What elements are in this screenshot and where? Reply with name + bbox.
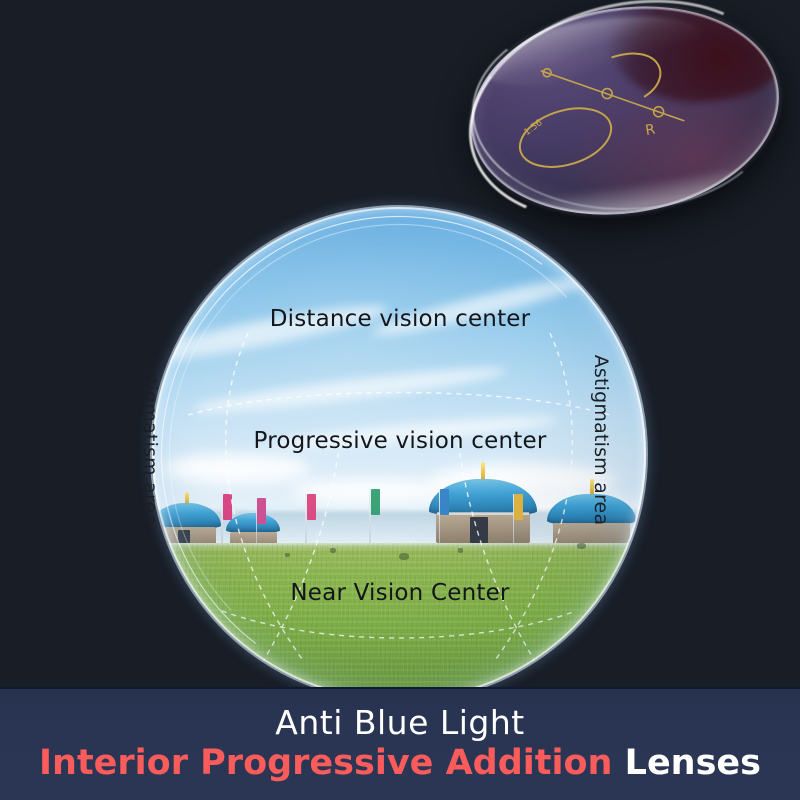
field-object — [285, 553, 290, 557]
banner-tail-text: Lenses — [612, 743, 761, 783]
cloud — [162, 454, 310, 484]
flag — [439, 489, 441, 548]
label-distance-vision-center: Distance vision center — [270, 306, 531, 332]
progressive-lens-demo — [152, 207, 646, 701]
product-image-canvas: R 1.56 — [0, 0, 800, 800]
lens-scene-photo — [152, 207, 646, 701]
field-object — [458, 548, 463, 553]
flag — [221, 494, 223, 548]
product-title-banner: Anti Blue Light Interior Progressive Add… — [0, 687, 800, 800]
flag — [369, 489, 371, 548]
label-astigmatism-area-right: Astigmatism area — [590, 355, 612, 526]
flag — [513, 494, 515, 548]
grassland — [152, 543, 646, 701]
label-astigmatism-area-left: Astigmatism area — [139, 355, 161, 526]
yurt-left — [152, 503, 221, 547]
label-progressive-vision-center: Progressive vision center — [254, 428, 547, 454]
flag — [305, 494, 307, 548]
field-object — [577, 543, 586, 549]
grass-texture — [152, 543, 646, 701]
banner-headline-secondary: Interior Progressive Addition Lenses — [39, 743, 761, 783]
field-object — [399, 553, 409, 560]
field-object — [330, 548, 336, 553]
banner-accent-text: Interior Progressive Addition — [39, 743, 612, 783]
label-near-vision-center: Near Vision Center — [290, 580, 509, 606]
yurt-dome — [152, 503, 221, 529]
yurt-finial — [481, 462, 485, 480]
banner-headline-primary: Anti Blue Light — [275, 706, 524, 741]
yurt-door — [470, 517, 488, 543]
yurt-dome — [226, 513, 280, 533]
purple-ar-coated-lens: R 1.56 — [456, 0, 794, 236]
flag — [256, 498, 258, 547]
